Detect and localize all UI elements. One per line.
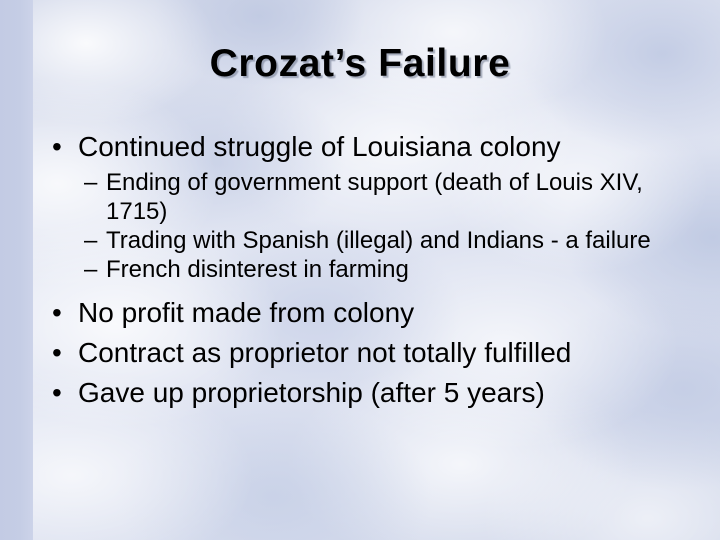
bullet-text: Contract as proprietor not totally fulfi…: [78, 337, 571, 368]
dash-marker-icon: –: [84, 168, 97, 197]
sub-bullet-item: – French disinterest in farming: [44, 255, 684, 284]
slide-title: Crozat’s Failure: [0, 42, 720, 86]
bullet-text: Gave up proprietorship (after 5 years): [78, 377, 545, 408]
bullet-marker-icon: •: [52, 293, 62, 333]
bullet-item: • Continued struggle of Louisiana colony: [44, 127, 684, 167]
sub-bullet-item: – Ending of government support (death of…: [44, 168, 684, 226]
bullet-item: • No profit made from colony: [44, 293, 684, 333]
dash-marker-icon: –: [84, 226, 97, 255]
presentation-slide: Crozat’s Failure • Continued struggle of…: [0, 0, 720, 540]
bullet-marker-icon: •: [52, 373, 62, 413]
bullet-marker-icon: •: [52, 127, 62, 167]
bullet-text: Continued struggle of Louisiana colony: [78, 131, 561, 162]
bullet-item: • Gave up proprietorship (after 5 years): [44, 373, 684, 413]
dash-marker-icon: –: [84, 255, 97, 284]
sub-bullet-text: French disinterest in farming: [106, 256, 409, 283]
sub-bullet-text: Ending of government support (death of L…: [106, 169, 643, 225]
bullet-marker-icon: •: [52, 333, 62, 373]
sub-bullet-group: – Ending of government support (death of…: [44, 168, 684, 284]
slide-body-content: • Continued struggle of Louisiana colony…: [44, 127, 684, 413]
bullet-text: No profit made from colony: [78, 297, 414, 328]
sub-bullet-item: – Trading with Spanish (illegal) and Ind…: [44, 226, 684, 255]
sub-bullet-text: Trading with Spanish (illegal) and India…: [106, 227, 651, 254]
bullet-item: • Contract as proprietor not totally ful…: [44, 333, 684, 373]
